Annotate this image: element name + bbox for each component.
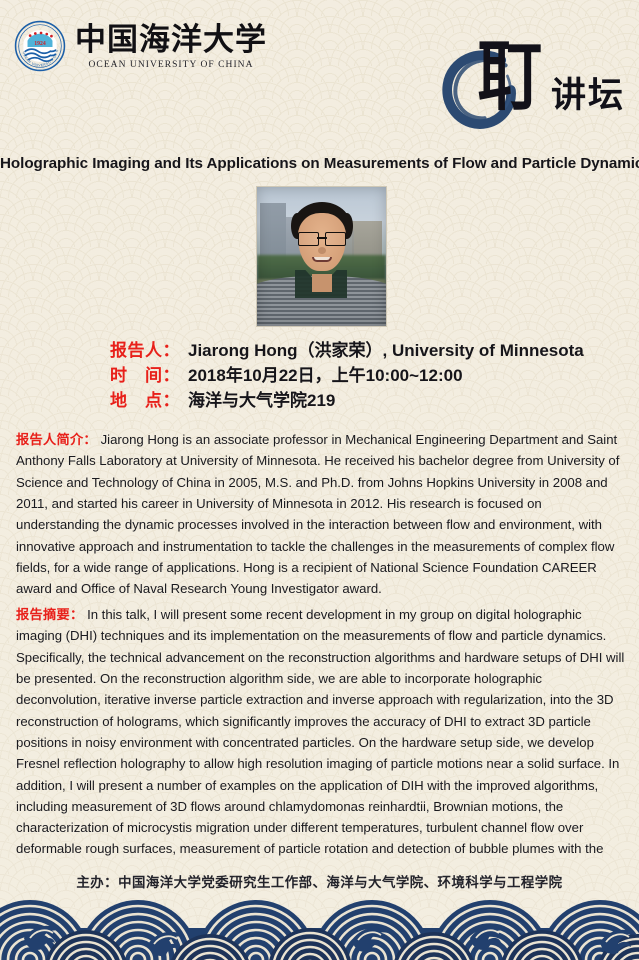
university-name-en: OCEAN UNIVERSITY OF CHINA <box>75 60 267 70</box>
speaker-portrait <box>256 186 387 327</box>
abstract-block: 报告摘要： In this talk, I will present some … <box>16 591 628 873</box>
talk-info-block: 报告人： Jiarong Hong（洪家荣）, University of Mi… <box>110 336 630 411</box>
poster-root: 1924 OCEAN UNIVERSITY OF CHINA <box>0 0 639 960</box>
forum-calligraphy-glyph: 耵 <box>477 40 542 116</box>
portrait-vignette <box>257 187 386 326</box>
info-row-location: 地 点： 海洋与大气学院219 <box>110 386 630 411</box>
info-value-time: 2018年10月22日，上午10:00~12:00 <box>188 361 463 386</box>
university-name-cn: 中国海洋大学 <box>75 24 267 57</box>
forum-word-label: 讲坛 <box>551 78 625 113</box>
abstract-label: 报告摘要： <box>16 607 83 622</box>
speaker-bio-text: Jiarong Hong is an associate professor i… <box>16 432 619 596</box>
seigaiha-wave-icon <box>0 888 639 960</box>
university-wordmark: 中国海洋大学 OCEAN UNIVERSITY OF CHINA <box>75 22 267 70</box>
info-label-location: 地 点： <box>110 386 188 411</box>
info-row-speaker: 报告人： Jiarong Hong（洪家荣）, University of Mi… <box>110 336 630 361</box>
page-title: Holographic Imaging and Its Applications… <box>0 155 639 172</box>
forum-brand-mark: 耵 讲坛 <box>433 44 621 144</box>
info-label-speaker: 报告人： <box>110 336 188 361</box>
info-row-time: 时 间： 2018年10月22日，上午10:00~12:00 <box>110 361 630 386</box>
poster-header: 1924 OCEAN UNIVERSITY OF CHINA <box>0 0 639 152</box>
ouc-seal-icon: 1924 OCEAN UNIVERSITY OF CHINA <box>14 20 66 72</box>
info-value-location: 海洋与大气学院219 <box>188 386 335 411</box>
speaker-bio-label: 报告人简介： <box>16 432 97 447</box>
info-label-time: 时 间： <box>110 361 188 386</box>
abstract-paragraph: 报告摘要： In this talk, I will present some … <box>16 604 628 860</box>
abstract-text: In this talk, I will present some recent… <box>16 607 624 856</box>
svg-text:1924: 1924 <box>34 41 46 47</box>
speaker-bio-paragraph: 报告人简介： Jiarong Hong is an associate prof… <box>16 429 628 599</box>
university-logo-block: 1924 OCEAN UNIVERSITY OF CHINA <box>14 20 267 72</box>
speaker-bio-block: 报告人简介： Jiarong Hong is an associate prof… <box>16 416 628 613</box>
info-value-speaker: Jiarong Hong（洪家荣）, University of Minneso… <box>188 336 584 361</box>
